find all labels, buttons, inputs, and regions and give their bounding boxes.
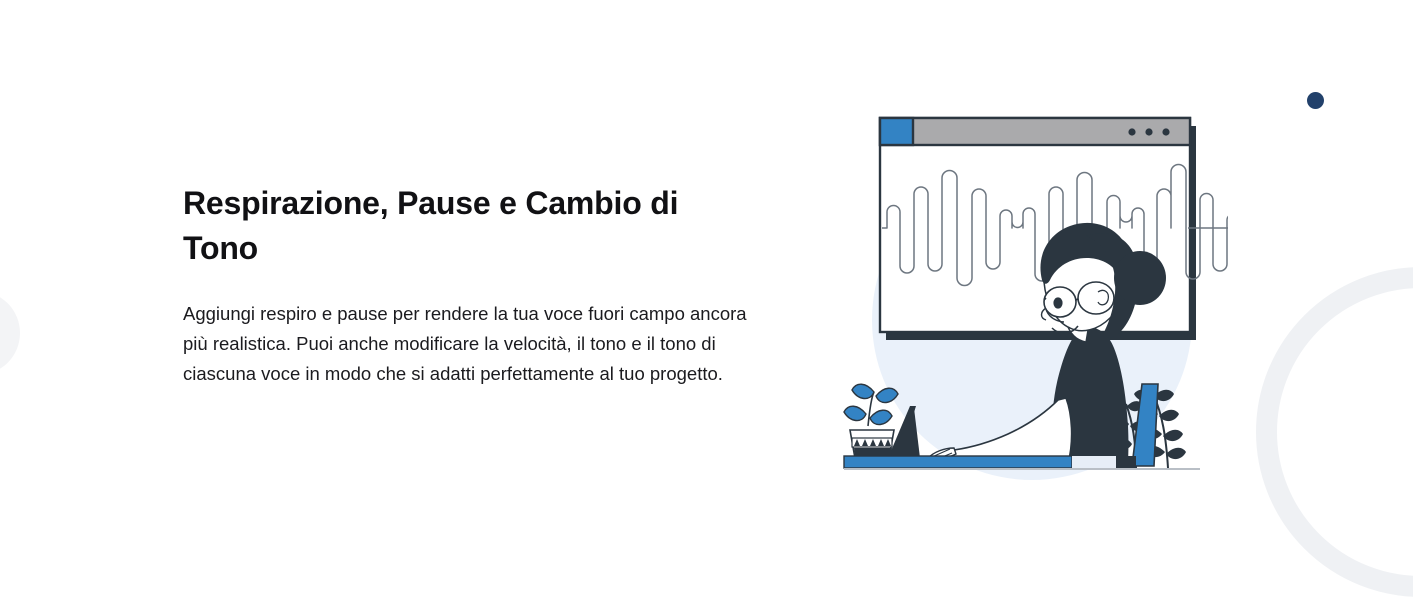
window-titlebar <box>880 118 1190 145</box>
illustration-woman-at-laptop <box>836 96 1228 488</box>
window-active-tab[interactable] <box>880 118 913 145</box>
decorative-dot <box>1307 92 1324 109</box>
feature-description: Aggiungi respiro e pause per rendere la … <box>183 271 751 389</box>
decorative-ring-right <box>1256 267 1413 597</box>
hair-bun <box>1114 251 1166 305</box>
decorative-circle-left <box>0 291 20 375</box>
floor-line <box>844 468 1200 470</box>
eye <box>1053 297 1062 308</box>
desk <box>844 456 1136 468</box>
page-root: Respirazione, Pause e Cambio di Tono Agg… <box>0 0 1413 615</box>
feature-text-column: Respirazione, Pause e Cambio di Tono Agg… <box>183 181 759 389</box>
plant-left <box>844 384 898 464</box>
page-title: Respirazione, Pause e Cambio di Tono <box>183 181 759 271</box>
